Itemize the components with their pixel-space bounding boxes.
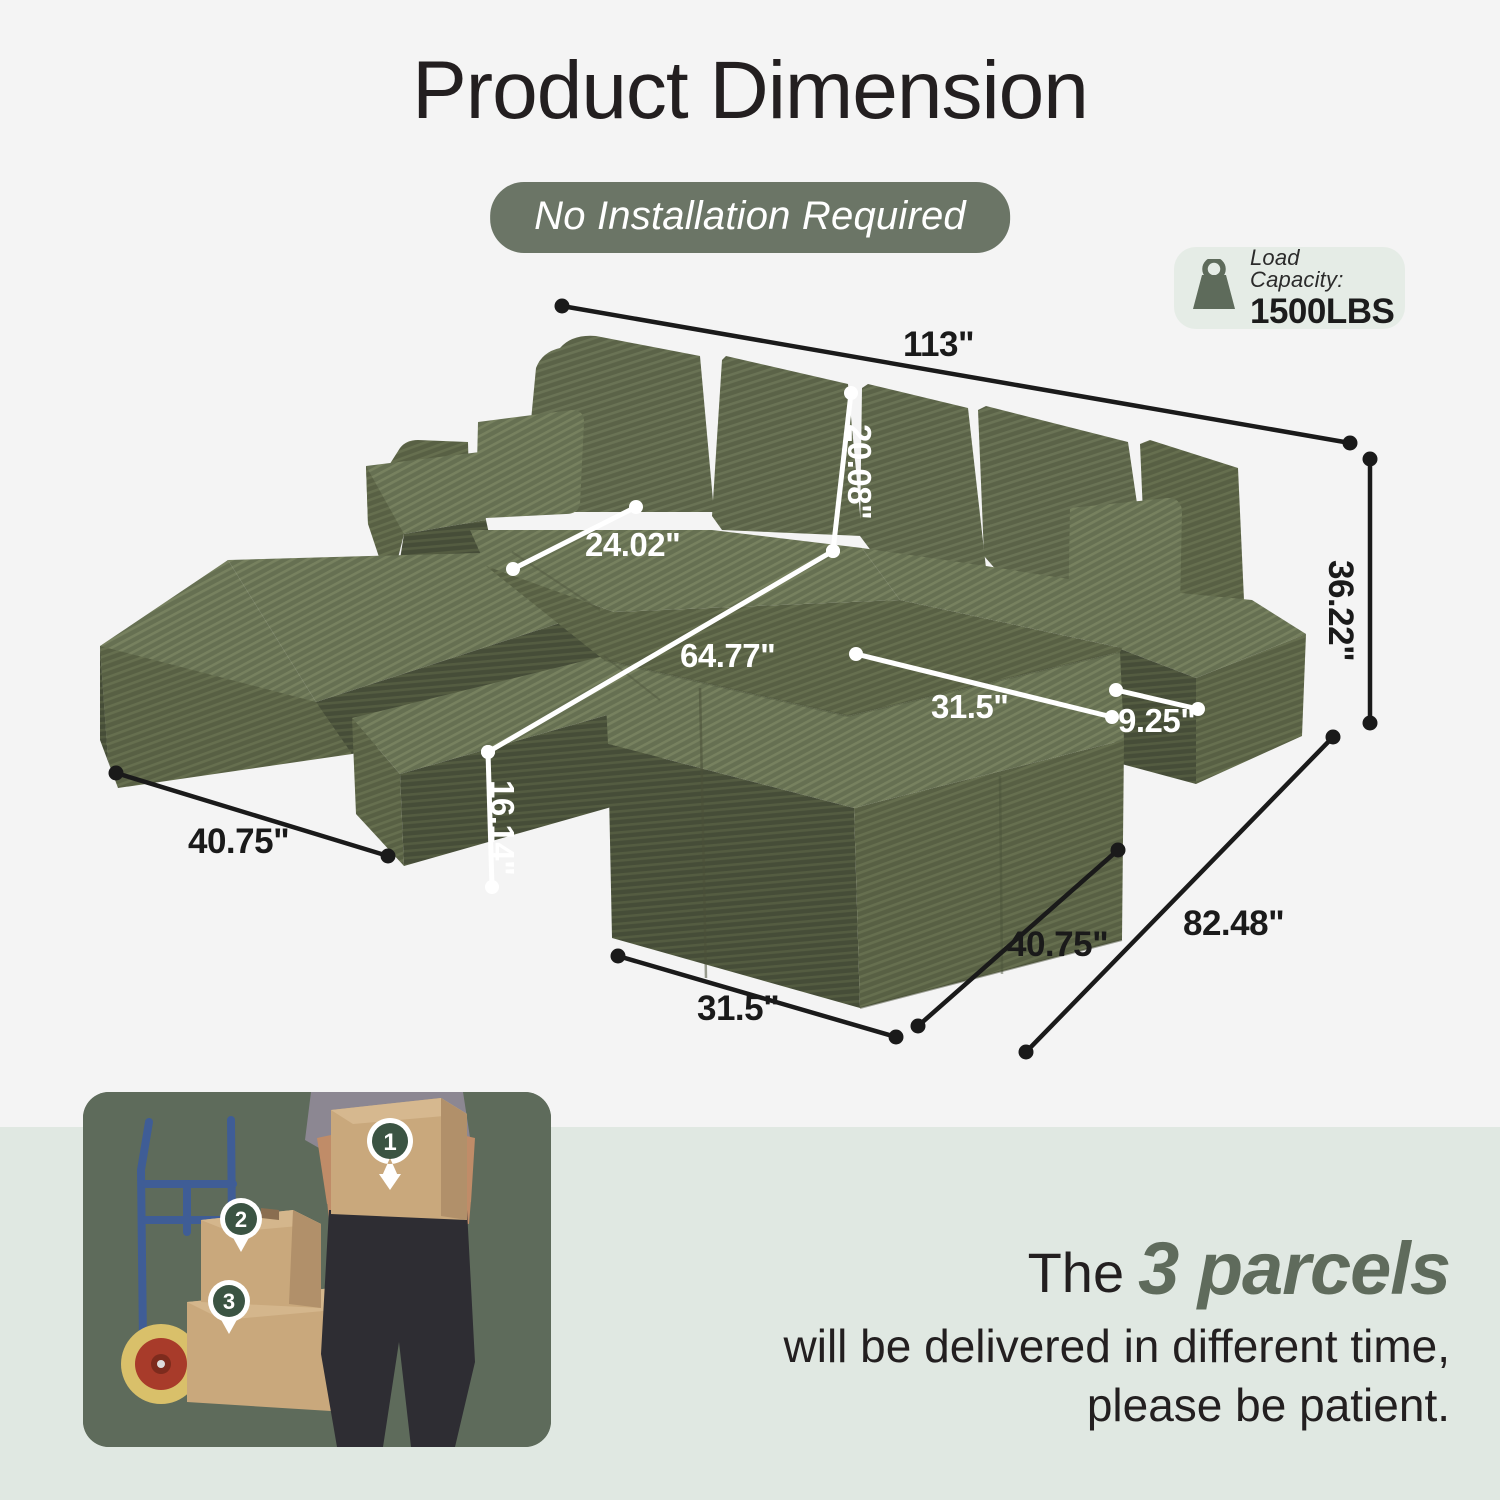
dim-label-chaise-depth-right: 40.75"	[1007, 927, 1108, 962]
dim-label-backrest-height: 20.08"	[843, 424, 876, 519]
delivery-note: The3 parcels will be delivered in differ…	[620, 1228, 1450, 1435]
product-dimension-illustration: 113" 36.22" 20.08" 24.02" 64.77" 16.14" …	[0, 0, 1500, 1127]
dim-label-seat-width: 31.5"	[931, 690, 1008, 723]
svg-text:3: 3	[223, 1289, 235, 1314]
dim-label-overall-height: 36.22"	[1323, 560, 1358, 661]
dim-label-chaise-depth-left: 40.75"	[188, 824, 289, 859]
delivery-photo-card: 1 2 3	[83, 1092, 551, 1447]
delivery-note-line1: The3 parcels	[620, 1228, 1450, 1311]
dim-label-bed-length: 64.77"	[680, 639, 775, 672]
dim-label-overall-width: 113"	[903, 327, 974, 362]
dim-label-seat-height: 16.14"	[486, 780, 519, 875]
delivery-note-line3: please be patient.	[620, 1376, 1450, 1435]
svg-text:2: 2	[235, 1207, 247, 1232]
delivery-note-line2: will be delivered in different time,	[620, 1317, 1450, 1376]
delivery-note-prefix: The	[1028, 1241, 1125, 1304]
dim-label-arm-width: 9.25"	[1118, 704, 1195, 737]
dim-label-overall-depth: 82.48"	[1183, 906, 1284, 941]
sofa-illustration	[0, 0, 1500, 1127]
delivery-note-highlight: 3 parcels	[1138, 1227, 1450, 1310]
dim-label-module-width-front: 31.5"	[697, 991, 779, 1026]
svg-text:1: 1	[383, 1129, 396, 1156]
dim-label-seat-depth: 24.02"	[585, 528, 680, 561]
